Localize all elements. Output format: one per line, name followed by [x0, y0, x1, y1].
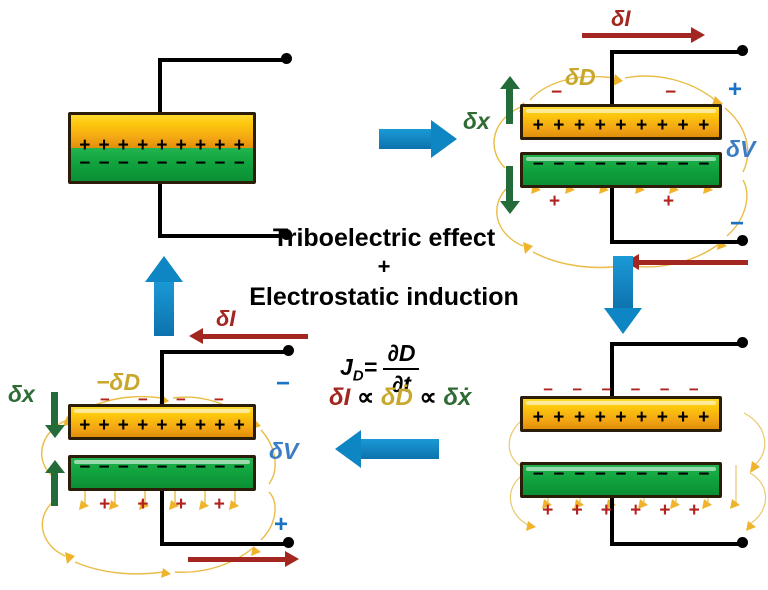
- separation-arrow-up: [506, 88, 513, 124]
- charge-plus: +: [98, 416, 109, 435]
- negative-layer: [71, 148, 253, 181]
- title-line-electrostatic: Electrostatic induction: [0, 283, 768, 312]
- terminal-node-top: [283, 345, 294, 356]
- device-stack-contact: +++++++++ −−−−−−−−−: [68, 112, 256, 184]
- layer-sheen: [526, 109, 716, 113]
- label-voltage-approaching: δV: [269, 440, 298, 463]
- positive-charges: +++++++++: [523, 116, 719, 135]
- charge-plus: +: [615, 116, 626, 135]
- induced-charge-plus: +: [542, 500, 553, 522]
- charge-plus: +: [657, 408, 668, 427]
- wire-bottom-vertical: [160, 490, 164, 546]
- terminal-node-bottom: [283, 537, 294, 548]
- induced-charge-plus: +: [689, 500, 700, 522]
- charge-plus: +: [636, 408, 647, 427]
- current-arrow-top: [202, 334, 308, 339]
- proportionality-operator-1: ∝: [357, 384, 374, 411]
- wire-bottom-vertical: [610, 490, 614, 546]
- wire-top-vertical: [610, 342, 614, 398]
- layer-sheen: [74, 409, 250, 413]
- induced-charge-plus: +: [214, 494, 225, 516]
- induced-positive-left: +: [549, 192, 560, 211]
- label-distance-approaching: δx: [8, 383, 35, 406]
- terminal-node-top: [737, 337, 748, 348]
- induced-charge-plus: +: [571, 500, 582, 522]
- induced-negative-left: −: [551, 83, 562, 102]
- charge-plus: +: [595, 408, 606, 427]
- charge-plus: +: [214, 416, 225, 435]
- terminal-polarity-negative: −: [276, 372, 290, 396]
- wire-top-vertical: [610, 50, 614, 106]
- induced-positive-right: +: [663, 192, 674, 211]
- wire-top-horizontal: [610, 50, 742, 54]
- current-arrow-bottom: [188, 557, 286, 562]
- charge-plus: +: [195, 416, 206, 435]
- wire-top-horizontal: [158, 58, 286, 62]
- arrow-contact-to-separating: [379, 120, 457, 158]
- arrow-shaft: [379, 129, 433, 149]
- positive-plate: +++++++++: [68, 404, 256, 440]
- equation-lhs: J: [340, 354, 353, 380]
- charge-plus: +: [574, 116, 585, 135]
- charge-plus: +: [156, 416, 167, 435]
- charge-plus: +: [657, 116, 668, 135]
- arrow-shaft: [359, 439, 439, 459]
- induced-charge-plus: +: [137, 494, 148, 516]
- charge-plus: +: [234, 416, 245, 435]
- induced-positive-row: ++++++: [524, 500, 718, 522]
- negative-plate: −−−−−−−−−: [68, 455, 256, 491]
- title-line-plus: +: [0, 254, 768, 280]
- label-distance-separating: δx: [463, 110, 490, 133]
- approach-arrow-down: [51, 392, 58, 426]
- induced-charge-plus: +: [99, 494, 110, 516]
- positive-charges: +++++++++: [71, 416, 253, 435]
- charge-plus: +: [698, 116, 709, 135]
- proportionality-displacement: δḊ: [381, 384, 413, 411]
- terminal-node-bottom: [737, 537, 748, 548]
- title-line-triboelectric: Triboelectric effect: [0, 224, 768, 253]
- equation-equals: =: [364, 354, 377, 380]
- charge-plus: +: [533, 116, 544, 135]
- charge-plus: +: [533, 408, 544, 427]
- induced-charge-plus: +: [630, 500, 641, 522]
- charge-plus: +: [678, 116, 689, 135]
- arrow-head: [335, 430, 361, 468]
- charge-plus: +: [553, 116, 564, 135]
- wire-top-horizontal: [160, 350, 288, 354]
- charge-plus: +: [678, 408, 689, 427]
- charge-plus: +: [118, 416, 129, 435]
- terminal-node-top: [281, 53, 292, 64]
- charge-plus: +: [574, 408, 585, 427]
- equation-numerator: ∂D: [383, 340, 419, 370]
- induced-charge-plus: +: [659, 500, 670, 522]
- negative-plate: −−−−−−−−−: [520, 462, 722, 498]
- positive-plate: +++++++++: [520, 396, 722, 432]
- current-arrow-top: [582, 33, 692, 38]
- layer-sheen: [526, 401, 716, 405]
- proportionality-current: δI: [329, 384, 350, 411]
- label-displacement-separating: δD: [565, 66, 596, 89]
- approach-arrow-up: [51, 472, 58, 506]
- terminal-polarity-positive: +: [728, 78, 742, 102]
- wire-top-vertical: [160, 350, 164, 406]
- wire-top-vertical: [158, 58, 162, 114]
- charge-plus: +: [553, 408, 564, 427]
- label-current-separating: δI: [611, 8, 631, 30]
- positive-charges: +++++++++: [523, 408, 719, 427]
- layer-sheen: [526, 467, 716, 471]
- induced-charge-plus: +: [176, 494, 187, 516]
- positive-layer: [71, 115, 253, 148]
- arrow-separated-to-approaching: [335, 430, 439, 468]
- charge-plus: +: [176, 416, 187, 435]
- label-displacement-approaching: −δD: [96, 371, 140, 394]
- induced-negative-right: −: [665, 83, 676, 102]
- wire-top-horizontal: [610, 342, 742, 346]
- proportionality-equation: δI ∝ δḊ ∝ δẋ: [329, 383, 471, 412]
- negative-plate: −−−−−−−−−: [520, 152, 722, 188]
- separation-arrow-down: [506, 166, 513, 202]
- charge-plus: +: [137, 416, 148, 435]
- charge-plus: +: [595, 116, 606, 135]
- proportionality-operator-2: ∝: [419, 384, 436, 411]
- charge-plus: +: [79, 416, 90, 435]
- proportionality-distance: δẋ: [443, 384, 471, 411]
- arrow-head: [431, 120, 457, 158]
- charge-plus: +: [698, 408, 709, 427]
- wire-bottom-horizontal: [610, 542, 742, 546]
- charge-plus: +: [615, 408, 626, 427]
- charge-plus: +: [636, 116, 647, 135]
- terminal-polarity-positive: +: [274, 513, 288, 537]
- label-voltage-separating: δV: [726, 138, 755, 161]
- positive-plate: +++++++++: [520, 104, 722, 140]
- wire-bottom-horizontal: [160, 542, 288, 546]
- terminal-node-top: [737, 45, 748, 56]
- layer-sheen: [526, 157, 716, 161]
- layer-sheen: [74, 460, 250, 464]
